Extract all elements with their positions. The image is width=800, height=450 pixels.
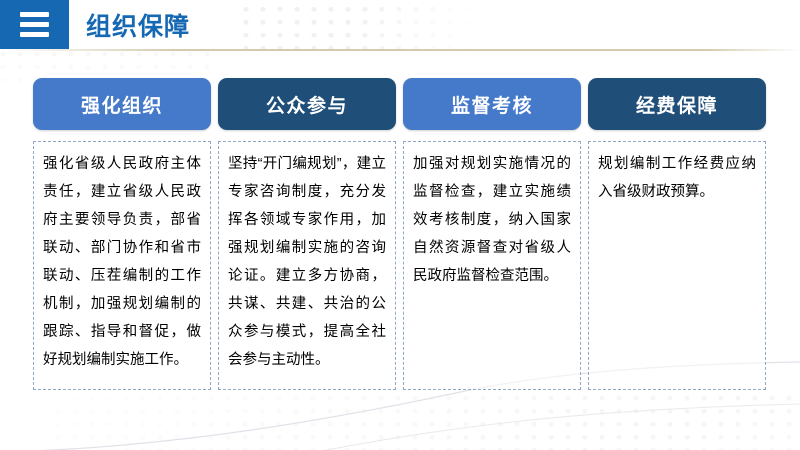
card-funding-guarantee: 经费保障 规划编制工作经费应纳入省级财政预算。 xyxy=(588,78,766,390)
card-title-funding-guarantee[interactable]: 经费保障 xyxy=(588,78,766,130)
section-number-badge xyxy=(0,0,69,49)
card-title-public-participation[interactable]: 公众参与 xyxy=(218,78,396,130)
card-strengthen-organization: 强化组织 强化省级人民政府主体责任，建立省级人民政府主要领导负责，部省联动、部门… xyxy=(33,78,211,390)
hamburger-menu-icon xyxy=(20,12,49,37)
card-title-supervision-assessment[interactable]: 监督考核 xyxy=(403,78,581,130)
card-title-strengthen-organization[interactable]: 强化组织 xyxy=(33,78,211,130)
dot-pattern-bottom xyxy=(55,396,800,450)
page-header: 组织保障 xyxy=(0,0,800,49)
card-body-funding-guarantee: 规划编制工作经费应纳入省级财政预算。 xyxy=(588,141,766,390)
card-supervision-assessment: 监督考核 加强对规划实施情况的监督检查，建立实施绩效考核制度，纳入国家自然资源督… xyxy=(403,78,581,390)
page-title: 组织保障 xyxy=(69,0,190,49)
card-body-supervision-assessment: 加强对规划实施情况的监督检查，建立实施绩效考核制度，纳入国家自然资源督查对省级人… xyxy=(403,141,581,390)
card-public-participation: 公众参与 坚持“开门编规划”，建立专家咨询制度，充分发挥各领域专家作用，加强规划… xyxy=(218,78,396,390)
card-body-public-participation: 坚持“开门编规划”，建立专家咨询制度，充分发挥各领域专家作用，加强规划编制实施的… xyxy=(218,141,396,390)
card-grid: 强化组织 强化省级人民政府主体责任，建立省级人民政府主要领导负责，部省联动、部门… xyxy=(0,78,800,390)
header-divider-rule xyxy=(0,49,800,51)
card-body-strengthen-organization: 强化省级人民政府主体责任，建立省级人民政府主要领导负责，部省联动、部门协作和省市… xyxy=(33,141,211,390)
